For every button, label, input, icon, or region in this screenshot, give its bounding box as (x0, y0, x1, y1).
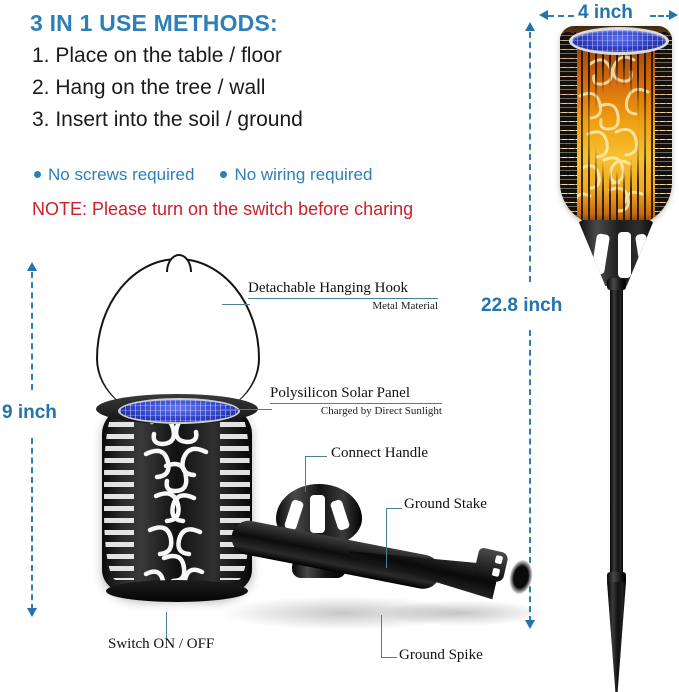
torch-pole (610, 282, 623, 582)
leader-line-handle-vertical (305, 456, 306, 492)
spike-shadow (378, 600, 548, 626)
dimension-width-label: 4 inch (578, 2, 633, 24)
torch-rib-right (655, 32, 672, 224)
cone-slot (591, 233, 610, 275)
dim-torch-arrow-up-icon (525, 22, 535, 31)
torch-ground-spike (607, 582, 626, 692)
lantern-ribs-left (104, 410, 134, 580)
dim-lantern-arrow-down-icon (27, 608, 37, 617)
leader-line-stake-vertical (386, 508, 387, 568)
leader-line-spike-vertical (381, 615, 382, 657)
spike-notch (492, 568, 501, 577)
callout-spike-title: Ground Spike (399, 648, 483, 664)
callout-solar-panel: Polysilicon Solar Panel Charged by Direc… (270, 386, 442, 417)
torch-flame-head (560, 26, 672, 226)
cone-slot (635, 233, 652, 274)
lantern-base (106, 580, 248, 602)
callout-switch: Switch ON / OFF (108, 637, 214, 653)
solar-torch-light (560, 26, 672, 626)
dimension-lantern-height-label: 9 inch (2, 402, 57, 424)
handle-cutout (284, 499, 305, 531)
hook-tip (166, 254, 192, 272)
ground-spike-head (473, 547, 509, 583)
infographic-canvas: 3 IN 1 USE METHODS: 1. Place on the tabl… (0, 0, 679, 684)
torch-solar-panel (569, 27, 669, 55)
leader-line-stake-horizontal (386, 508, 402, 509)
callout-hook-sub: Metal Material (248, 300, 438, 312)
bullet-dot-icon (220, 171, 227, 178)
spike-notch (495, 555, 504, 564)
pole-and-spike-parts (228, 548, 528, 663)
callout-ground-stake: Ground Stake (404, 497, 487, 513)
leader-line-spike-horizontal (381, 657, 397, 658)
dim-width-arrow-right-icon (669, 10, 678, 20)
callout-solar-title: Polysilicon Solar Panel (270, 386, 442, 402)
lantern-solar-panel (118, 398, 240, 424)
dim-lantern-dash-upper (31, 272, 33, 390)
dim-width-dash-left (548, 15, 574, 17)
dim-lantern-dash-lower (31, 438, 33, 610)
use-method-3: 3. Insert into the soil / ground (32, 108, 303, 132)
callout-solar-rule (270, 403, 442, 404)
callout-hanging-hook: Detachable Hanging Hook Metal Material (248, 281, 438, 312)
callout-hook-title: Detachable Hanging Hook (248, 281, 438, 297)
dim-lantern-arrow-up-icon (27, 262, 37, 271)
bullet-no-wiring: No wiring required (234, 165, 372, 184)
bullet-no-screws: No screws required (48, 165, 194, 184)
callout-stake-title: Ground Stake (404, 497, 487, 513)
handle-cutout (330, 499, 351, 531)
feature-bullets: No screws requiredNo wiring required (34, 165, 372, 185)
callout-hook-rule (248, 298, 438, 299)
dim-torch-dash-upper (529, 32, 531, 282)
torch-pole-band-top (607, 278, 626, 290)
dim-width-arrow-left-icon (539, 10, 548, 20)
torch-connect-cone (578, 220, 654, 286)
leader-line-handle-horizontal (305, 456, 327, 457)
leader-line-hook (222, 304, 250, 305)
callout-solar-sub: Charged by Direct Sunlight (270, 405, 442, 417)
callout-handle-title: Connect Handle (331, 446, 428, 462)
use-method-2: 2. Hang on the tree / wall (32, 76, 265, 100)
torch-rib-left (560, 32, 577, 224)
callout-switch-title: Switch ON / OFF (108, 637, 214, 653)
note-text: NOTE: Please turn on the switch before c… (32, 199, 413, 220)
page-title: 3 IN 1 USE METHODS: (30, 10, 278, 37)
dimension-torch-height-label: 22.8 inch (481, 295, 562, 317)
leader-line-solar (222, 409, 272, 410)
callout-ground-spike: Ground Spike (399, 648, 483, 664)
callout-connect-handle: Connect Handle (331, 446, 428, 462)
bullet-dot-icon (34, 171, 41, 178)
use-method-1: 1. Place on the table / floor (32, 44, 282, 68)
cone-slot (618, 232, 631, 278)
handle-cutout (310, 495, 325, 533)
